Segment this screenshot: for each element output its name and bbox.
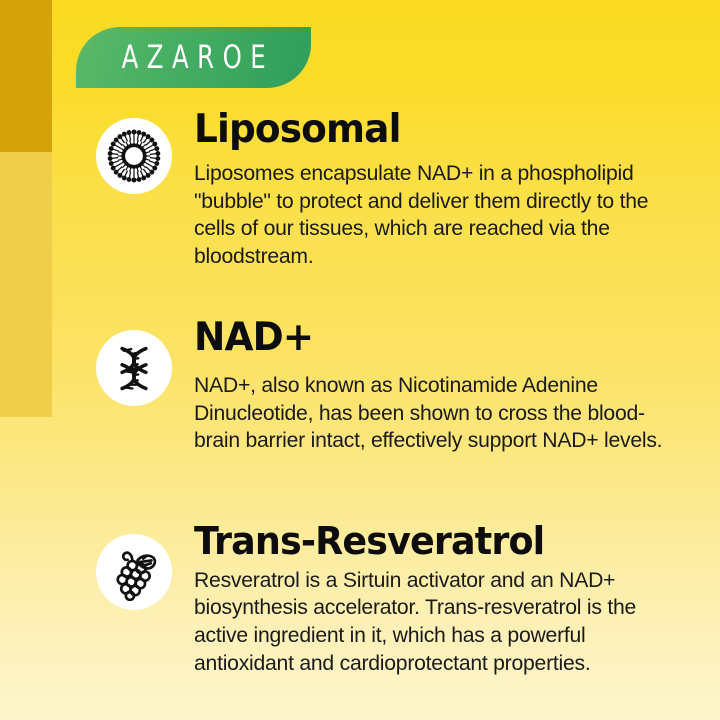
- dna-helix-icon-badge: [96, 330, 172, 406]
- brand-logo-banner: AZAROE: [76, 27, 311, 88]
- liposome-icon: [104, 126, 164, 186]
- feature-section-liposomal: Liposomal Liposomes encapsulate NAD+ in …: [0, 110, 720, 271]
- section-heading: Liposomal: [194, 110, 672, 150]
- dna-helix-icon: [107, 341, 161, 395]
- section-description: Liposomes encapsulate NAD+ in a phosphol…: [194, 160, 685, 271]
- infographic-poster: AZAROE: [0, 0, 720, 720]
- section-body: Liposomal Liposomes encapsulate NAD+ in …: [172, 110, 720, 271]
- liposome-icon-badge: [96, 118, 172, 194]
- feature-section-nad: NAD+ NAD+, also known as Nicotinamide Ad…: [0, 318, 720, 455]
- section-body: NAD+ NAD+, also known as Nicotinamide Ad…: [172, 318, 720, 455]
- section-description: Resveratrol is a Sirtuin activator and a…: [194, 567, 685, 678]
- section-body: Trans-Resveratrol Resveratrol is a Sirtu…: [172, 522, 720, 678]
- feature-section-trans-resveratrol: Trans-Resveratrol Resveratrol is a Sirtu…: [0, 522, 720, 678]
- grapes-icon: [105, 543, 163, 601]
- section-description: NAD+, also known as Nicotinamide Adenine…: [194, 372, 685, 455]
- section-heading: NAD+: [194, 318, 672, 358]
- section-heading: Trans-Resveratrol: [194, 522, 672, 561]
- brand-logo-text: AZAROE: [113, 42, 274, 74]
- grapes-icon-badge: [96, 534, 172, 610]
